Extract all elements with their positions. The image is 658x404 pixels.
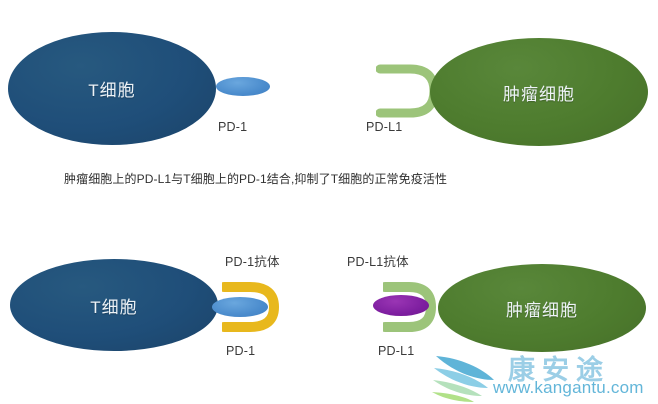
tumor-cell-top-label: 肿瘤细胞 bbox=[503, 80, 575, 105]
t-cell-top: T细胞 bbox=[8, 32, 216, 145]
diagram-caption: 肿瘤细胞上的PD-L1与T细胞上的PD-1结合,抑制了T细胞的正常免疫活性 bbox=[64, 170, 447, 187]
pd1-receptor-bottom bbox=[212, 297, 268, 317]
pdl1-label-top: PD-L1 bbox=[366, 120, 402, 134]
tumor-cell-bottom-label: 肿瘤细胞 bbox=[506, 296, 578, 321]
pd1-label-top: PD-1 bbox=[218, 120, 247, 134]
watermark: 康安途 www.kangantu.com bbox=[430, 348, 658, 404]
watermark-url: www.kangantu.com bbox=[493, 378, 644, 398]
leaf-feather-icon bbox=[430, 350, 500, 404]
pdl1-antibody-label: PD-L1抗体 bbox=[347, 251, 409, 270]
pd1-antibody-label: PD-1抗体 bbox=[225, 251, 280, 270]
tumor-cell-bottom: 肿瘤细胞 bbox=[438, 264, 646, 352]
t-cell-top-label: T细胞 bbox=[88, 76, 135, 101]
pdl1-label-bottom: PD-L1 bbox=[378, 344, 414, 358]
pdl1-molecule-bottom bbox=[373, 295, 429, 316]
pd1-label-bottom: PD-1 bbox=[226, 344, 255, 358]
tumor-cell-top: 肿瘤细胞 bbox=[430, 38, 648, 146]
t-cell-bottom: T细胞 bbox=[10, 259, 218, 351]
pd1-receptor-top bbox=[216, 77, 270, 96]
diagram-canvas: T细胞 PD-1 PD-L1 肿瘤细胞 肿瘤细胞上的PD-L1与T细胞上的PD-… bbox=[0, 0, 658, 404]
t-cell-bottom-label: T细胞 bbox=[90, 293, 137, 318]
watermark-brand-cn: 康安途 bbox=[508, 348, 610, 387]
